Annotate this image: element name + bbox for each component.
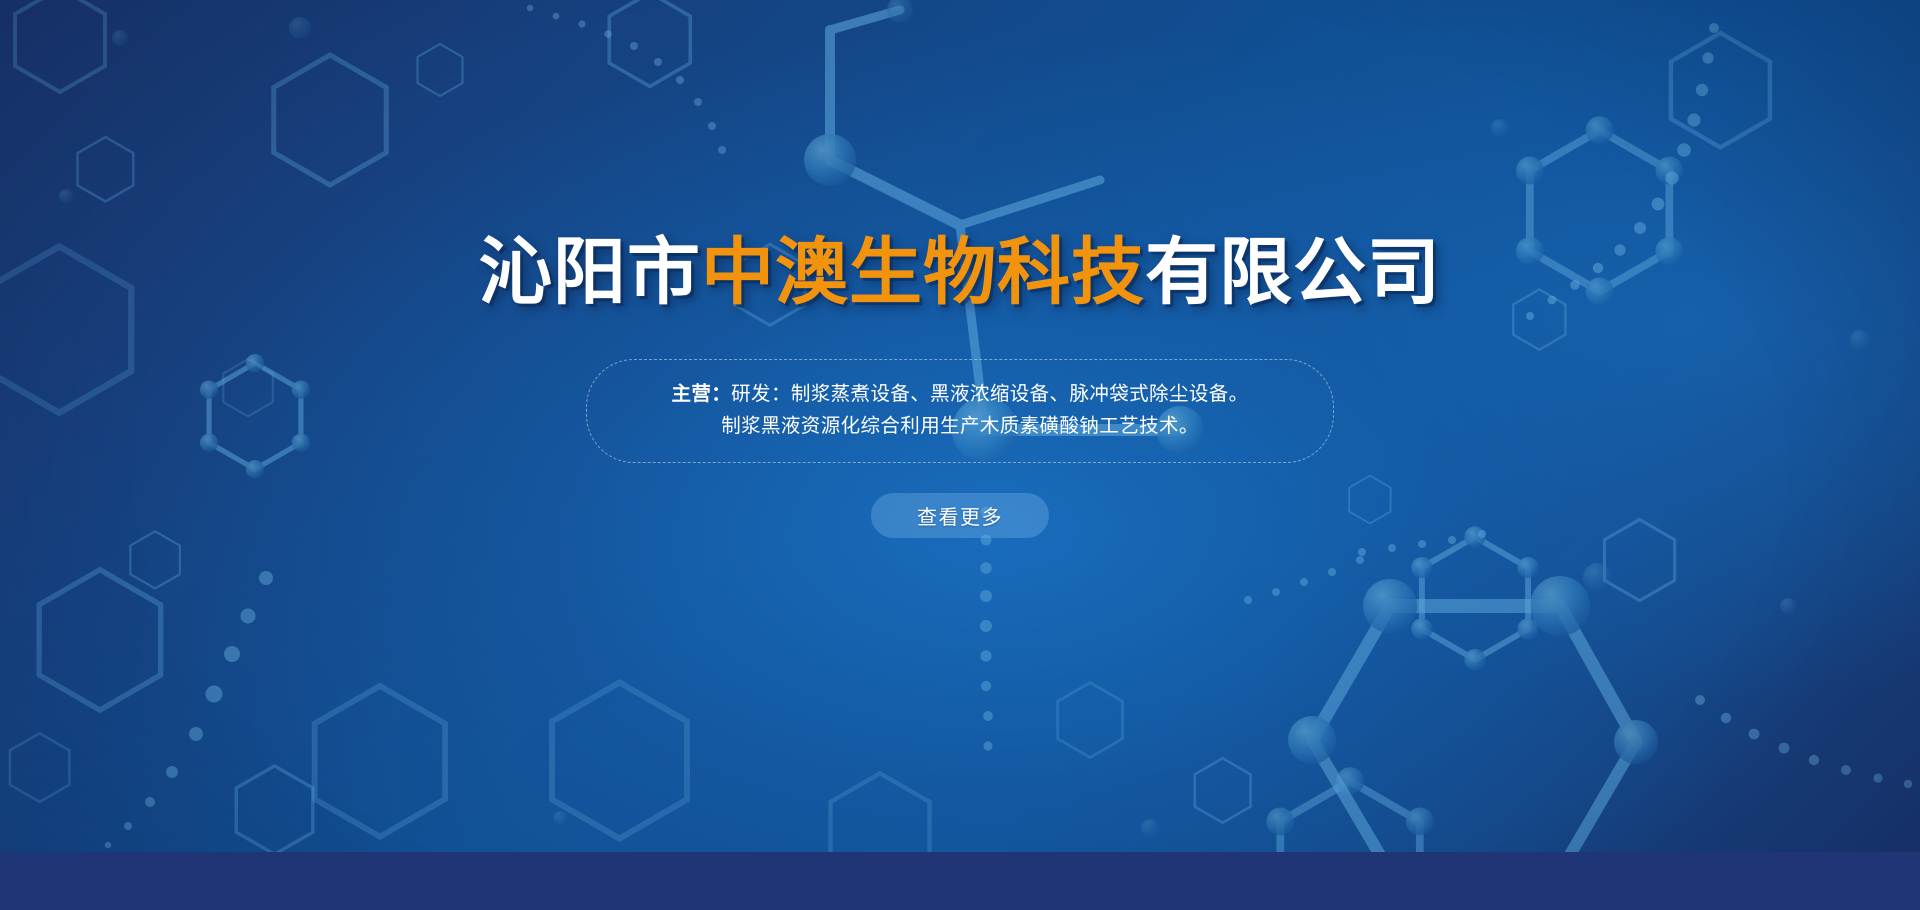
hero-banner: 沁阳市中澳生物科技有限公司 主营：研发：制浆蒸煮设备、黑液浓缩设备、脉冲袋式除尘… — [0, 0, 1920, 852]
title-suffix: 有限公司 — [1145, 232, 1441, 313]
view-more-button[interactable]: 查看更多 — [871, 493, 1049, 538]
bottom-bar — [0, 852, 1920, 910]
subtitle-box: 主营：研发：制浆蒸煮设备、黑液浓缩设备、脉冲袋式除尘设备。 制浆黑液资源化综合利… — [586, 359, 1334, 463]
subtitle-line-1: 主营：研发：制浆蒸煮设备、黑液浓缩设备、脉冲袋式除尘设备。 — [615, 378, 1305, 410]
page-root: 沁阳市中澳生物科技有限公司 主营：研发：制浆蒸煮设备、黑液浓缩设备、脉冲袋式除尘… — [0, 0, 1920, 910]
title-accent: 中澳生物科技 — [701, 232, 1145, 313]
title-prefix: 沁阳市 — [479, 232, 701, 313]
hero-content: 沁阳市中澳生物科技有限公司 主营：研发：制浆蒸煮设备、黑液浓缩设备、脉冲袋式除尘… — [0, 0, 1920, 852]
subtitle-line-1-rest: 研发：制浆蒸煮设备、黑液浓缩设备、脉冲袋式除尘设备。 — [731, 383, 1248, 405]
subtitle-line-2: 制浆黑液资源化综合利用生产木质素磺酸钠工艺技术。 — [615, 410, 1305, 442]
page-title: 沁阳市中澳生物科技有限公司 — [479, 236, 1441, 309]
subtitle-lead-label: 主营： — [671, 383, 731, 405]
